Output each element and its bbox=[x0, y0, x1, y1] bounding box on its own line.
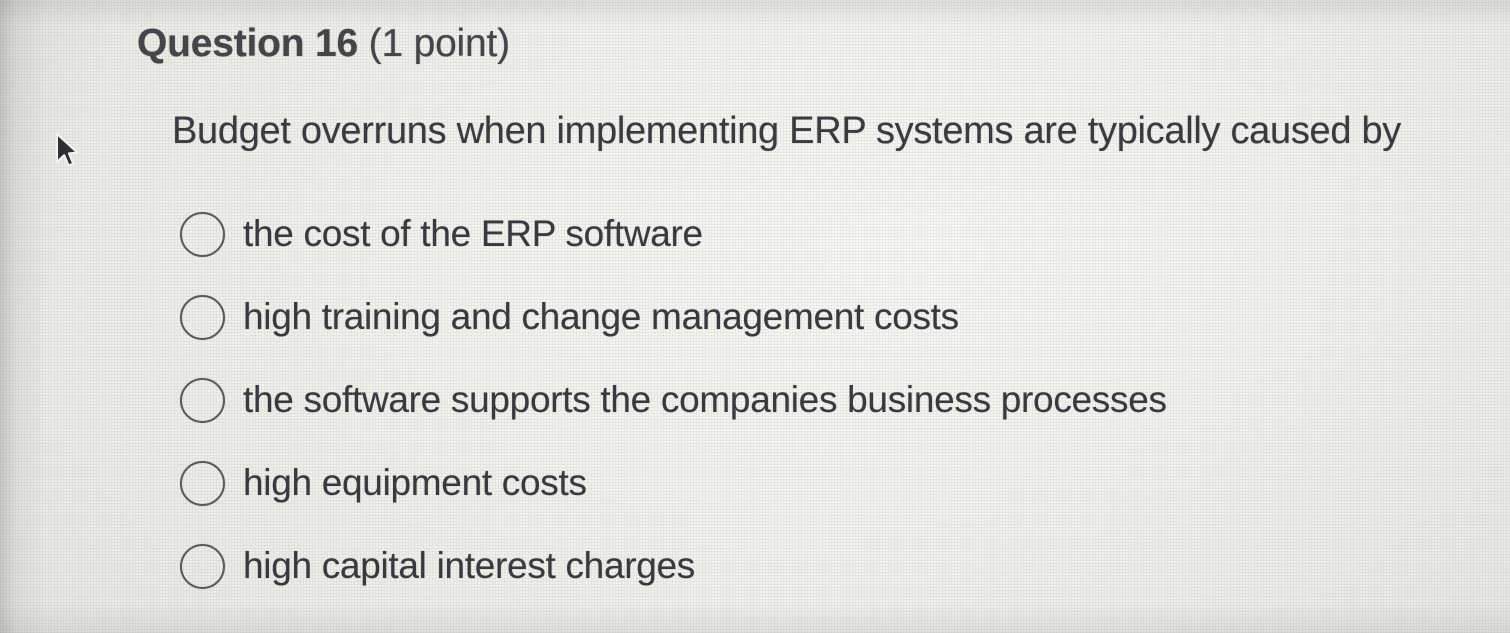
radio-button-icon-1[interactable] bbox=[180, 212, 225, 257]
quiz-screen: Question 16 (1 point) Budget overruns wh… bbox=[0, 0, 1510, 633]
answer-option-label-1[interactable]: the cost of the ERP software bbox=[243, 210, 703, 258]
radio-button-icon-4[interactable] bbox=[180, 461, 225, 506]
answer-option-label-5[interactable]: high capital interest charges bbox=[243, 542, 695, 590]
question-number: Question 16 bbox=[137, 22, 358, 65]
question-container: Question 16 (1 point) Budget overruns wh… bbox=[0, 0, 1510, 633]
answer-options-list: the cost of the ERP software high traini… bbox=[180, 210, 1480, 625]
radio-button-icon-2[interactable] bbox=[180, 295, 225, 340]
answer-option-label-2[interactable]: high training and change management cost… bbox=[243, 293, 959, 341]
answer-option-1[interactable]: the cost of the ERP software bbox=[180, 210, 1480, 293]
answer-option-3[interactable]: the software supports the companies busi… bbox=[180, 376, 1480, 459]
answer-option-2[interactable]: high training and change management cost… bbox=[180, 293, 1480, 376]
answer-option-label-4[interactable]: high equipment costs bbox=[243, 459, 587, 507]
question-stem: Budget overruns when implementing ERP sy… bbox=[172, 106, 1401, 156]
question-heading: Question 16 (1 point) bbox=[137, 18, 510, 70]
answer-option-label-3[interactable]: the software supports the companies busi… bbox=[243, 376, 1167, 424]
radio-button-icon-3[interactable] bbox=[180, 378, 225, 423]
radio-button-icon-5[interactable] bbox=[180, 544, 225, 589]
answer-option-5[interactable]: high capital interest charges bbox=[180, 542, 1480, 625]
question-points: (1 point) bbox=[358, 22, 510, 65]
answer-option-4[interactable]: high equipment costs bbox=[180, 459, 1480, 542]
